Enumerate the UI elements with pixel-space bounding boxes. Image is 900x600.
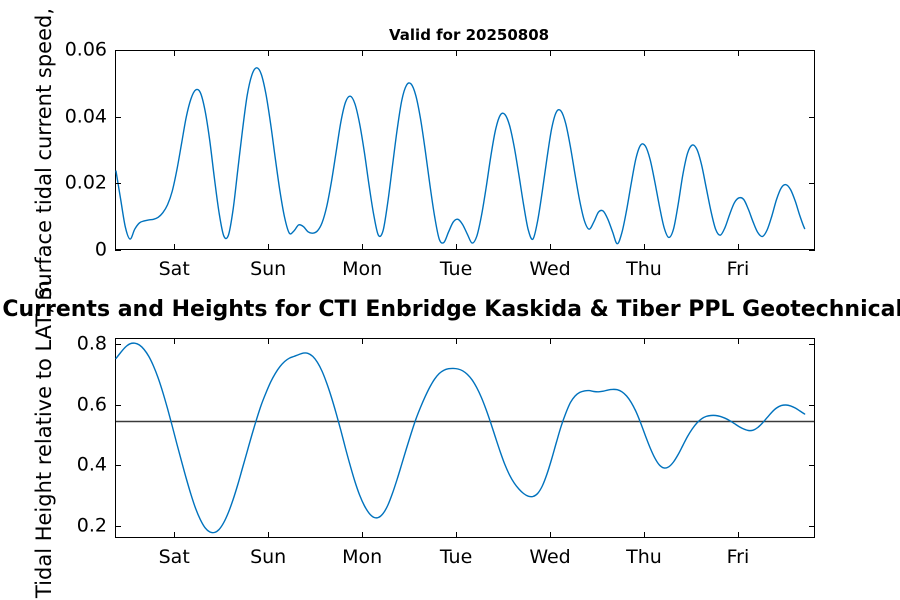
y-axis-tick-mark: [809, 250, 815, 251]
x-axis-tick-mark: [174, 532, 175, 538]
y-axis-tick-mark: [809, 117, 815, 118]
x-axis-tick-mark: [550, 532, 551, 538]
x-axis-tick-mark: [362, 50, 363, 56]
y-axis-tick-mark: [809, 50, 815, 51]
tidal-height-series-svg: [116, 339, 814, 537]
x-tick-label-fri: Fri: [727, 260, 750, 279]
y-axis-tick-mark: [809, 405, 815, 406]
y-tick-label: 0.6: [77, 395, 107, 414]
x-axis-tick-mark: [644, 532, 645, 538]
x-axis-tick-mark: [738, 338, 739, 344]
chart-tidal-height-plot-area: [115, 338, 815, 538]
chart-current-speed-plot-area: [115, 50, 815, 250]
chart-subtitle-valid-for: Valid for 20250808: [389, 28, 549, 43]
x-tick-label-fri: Fri: [727, 548, 750, 567]
y-axis-tick-mark: [809, 344, 815, 345]
x-axis-tick-mark: [644, 338, 645, 344]
y-axis-tick-mark: [809, 465, 815, 466]
x-tick-label-thu: Thu: [626, 260, 662, 279]
y-axis-tick-mark: [809, 183, 815, 184]
y-axis-tick-mark: [115, 250, 121, 251]
x-tick-label-tue: Tue: [440, 548, 472, 567]
y-axis-tick-mark: [115, 405, 121, 406]
x-tick-label-sat: Sat: [159, 260, 190, 279]
y-axis-tick-mark: [115, 526, 121, 527]
x-axis-tick-mark: [456, 50, 457, 56]
current-speed-series-svg: [116, 51, 814, 249]
x-axis-tick-mark: [362, 338, 363, 344]
x-axis-tick-mark: [550, 244, 551, 250]
x-axis-tick-mark: [362, 532, 363, 538]
x-axis-tick-mark: [456, 532, 457, 538]
y-tick-label: 0.04: [65, 107, 107, 126]
y-tick-label: 0.02: [65, 174, 107, 193]
x-tick-label-wed: Wed: [529, 548, 570, 567]
y-axis-tick-mark: [115, 50, 121, 51]
y-tick-label: 0: [95, 241, 107, 260]
y-tick-label: 0.2: [77, 516, 107, 535]
data-series-line: [116, 343, 805, 533]
x-axis-tick-mark: [456, 244, 457, 250]
tidal-figure: Valid for 20250808 Surface tidal current…: [0, 0, 900, 600]
x-axis-tick-mark: [268, 50, 269, 56]
x-axis-tick-mark: [174, 244, 175, 250]
x-axis-tick-mark: [644, 244, 645, 250]
x-axis-tick-mark: [268, 244, 269, 250]
x-tick-label-mon: Mon: [342, 548, 382, 567]
x-tick-label-sun: Sun: [250, 260, 286, 279]
x-tick-label-wed: Wed: [529, 260, 570, 279]
x-axis-tick-mark: [456, 338, 457, 344]
y-tick-label: 0.4: [77, 456, 107, 475]
x-tick-label-mon: Mon: [342, 260, 382, 279]
x-axis-tick-mark: [268, 532, 269, 538]
data-series-line: [116, 68, 805, 244]
figure-main-title: Tidal Currents and Heights for CTI Enbri…: [0, 299, 900, 321]
x-axis-tick-mark: [738, 532, 739, 538]
x-axis-tick-mark: [174, 338, 175, 344]
x-tick-label-thu: Thu: [626, 548, 662, 567]
y-axis-tick-mark: [115, 183, 121, 184]
x-axis-tick-mark: [174, 50, 175, 56]
y-axis-title-current-speed: Surface tidal current speed, kn: [34, 0, 55, 300]
y-axis-tick-mark: [115, 117, 121, 118]
x-axis-tick-mark: [550, 338, 551, 344]
x-tick-label-tue: Tue: [440, 260, 472, 279]
x-axis-tick-mark: [644, 50, 645, 56]
x-axis-tick-mark: [550, 50, 551, 56]
y-axis-tick-mark: [115, 465, 121, 466]
y-tick-label: 0.06: [65, 41, 107, 60]
y-axis-tick-mark: [809, 526, 815, 527]
x-axis-tick-mark: [738, 244, 739, 250]
y-axis-title-tidal-height: Tidal Height relative to LAT, m: [34, 280, 55, 598]
x-tick-label-sat: Sat: [159, 548, 190, 567]
x-axis-tick-mark: [268, 338, 269, 344]
x-tick-label-sun: Sun: [250, 548, 286, 567]
y-axis-tick-mark: [115, 344, 121, 345]
x-axis-tick-mark: [362, 244, 363, 250]
y-tick-label: 0.8: [77, 335, 107, 354]
x-axis-tick-mark: [738, 50, 739, 56]
